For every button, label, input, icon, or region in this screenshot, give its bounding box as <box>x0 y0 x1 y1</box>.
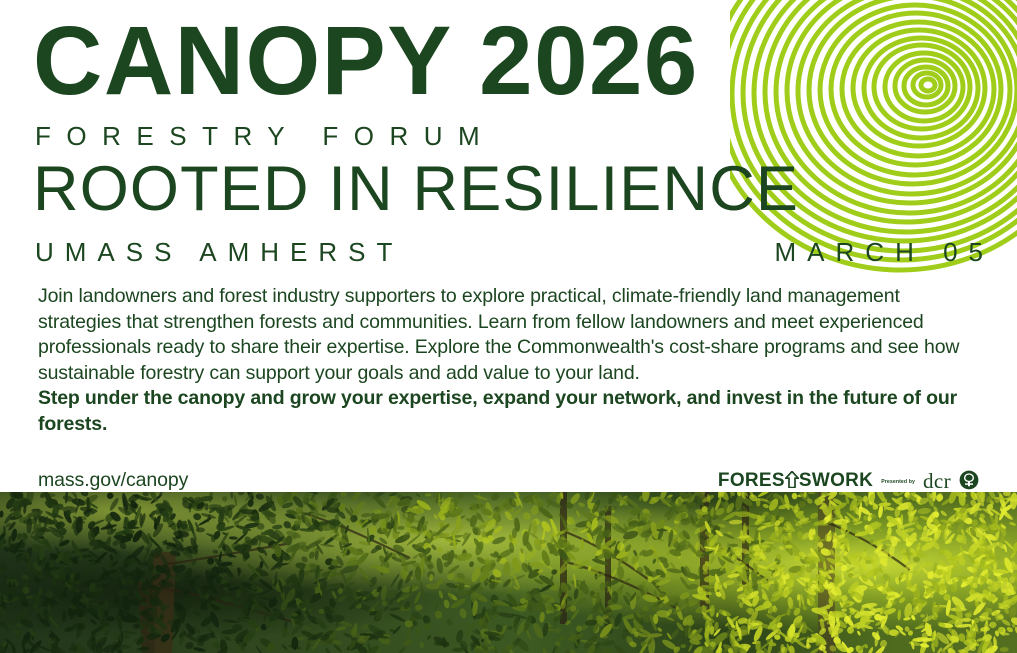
theme-title: ROOTED IN RESILIENCE <box>33 157 993 221</box>
logo-lockup: FORES SWORK Presented by dcr <box>718 470 979 491</box>
page-title: CANOPY 2026 <box>33 14 983 107</box>
forests-work-label-right: SWORK <box>799 471 873 490</box>
intro-paragraph: Join landowners and forest industry supp… <box>38 284 973 386</box>
event-date: MARCH 05 <box>775 237 994 268</box>
event-meta-row: UMASS AMHERST MARCH 05 <box>35 237 985 268</box>
site-url-link[interactable]: mass.gov/canopy <box>38 469 188 492</box>
forest-canopy-photograph <box>0 492 1017 653</box>
cta-paragraph: Step under the canopy and grow your expe… <box>38 386 973 437</box>
forests-work-logo: FORES SWORK <box>718 470 873 491</box>
headline-block: CANOPY 2026 FORESTRY FORUM ROOTED IN RES… <box>33 14 993 268</box>
canopy-2026-poster: CANOPY 2026 FORESTRY FORUM ROOTED IN RES… <box>0 0 1017 653</box>
dcr-leaf-seal-icon <box>959 470 979 490</box>
forum-subtitle: FORESTRY FORUM <box>35 121 993 152</box>
body-copy: Join landowners and forest industry supp… <box>38 284 973 437</box>
presented-by-label: Presented by <box>881 479 915 485</box>
forests-work-label-left: FORES <box>718 471 785 490</box>
event-location: UMASS AMHERST <box>35 237 403 268</box>
dcr-wordmark: dcr <box>923 471 951 492</box>
footer: mass.gov/canopy FORES SWORK Presented by… <box>38 466 979 494</box>
tree-arrow-icon <box>785 471 799 492</box>
